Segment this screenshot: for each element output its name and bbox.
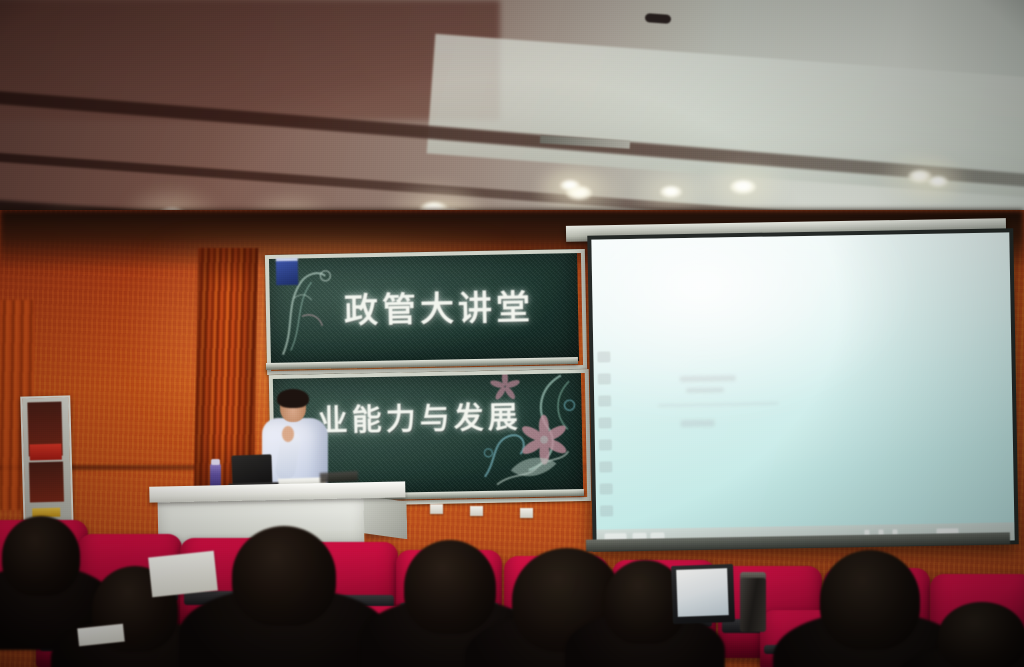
ceiling-spotlight [560,180,580,191]
audience-member-head [820,550,920,650]
audience-member-head [2,516,80,596]
ceiling-vent-icon [645,13,672,24]
cabinet-panel-lower [29,462,64,503]
presenter-hair [277,389,309,408]
screen-content-line [686,387,724,393]
wall-display-unit-icon [276,258,298,285]
desktop-icon[interactable] [598,417,611,428]
cabinet-red-label [29,444,61,461]
screen-glare [591,232,916,418]
desktop-icon[interactable] [599,439,612,450]
desktop-icon[interactable] [598,395,611,406]
blackboard-lower-text: 业能力与发展 [317,392,522,440]
audience-member-head [404,540,496,634]
ceiling-spotlight [730,180,756,194]
audience-paper-sheet[interactable] [148,551,218,598]
presenter-hand [282,426,294,442]
audience-member-head [232,526,336,626]
ceiling-spotlight [660,186,682,198]
desktop-icon[interactable] [599,461,612,472]
thermos-bottle[interactable] [740,578,766,632]
audience-laptop-screen [676,568,729,617]
water-bottle-cap [211,459,220,465]
screen-content-line [681,420,715,428]
screen-content-line [680,375,736,382]
blackboard-upper-text: 政管大讲堂 [344,280,535,333]
audience-seating [0,498,1024,667]
desktop-icon[interactable] [597,351,610,362]
blackboard-upper: 政管大讲堂 [265,249,579,367]
podium-dark-object [320,471,358,483]
audience-member-head [938,602,1024,667]
laptop-lid [231,454,272,485]
ceiling-spotlight [928,176,948,187]
lecture-hall-photo: 政管大讲堂 业能力与发展 [0,0,1024,667]
audience-laptop[interactable] [671,564,735,624]
desktop-icon[interactable] [598,373,611,384]
desktop-icon[interactable] [600,483,613,494]
